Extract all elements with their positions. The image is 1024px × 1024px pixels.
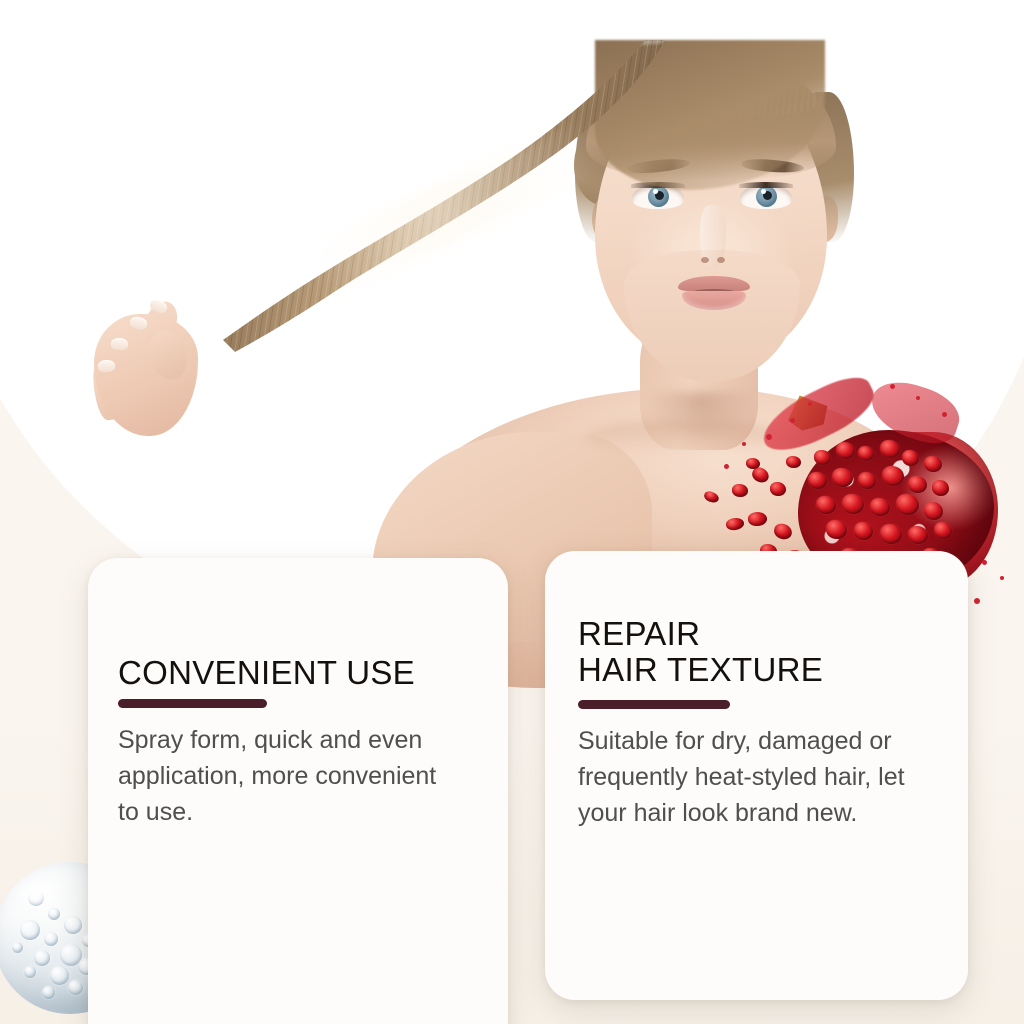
banner-stage: CONVENIENT USE Spray form, quick and eve… — [0, 0, 1024, 1024]
card-text-layer: CONVENIENT USE Spray form, quick and eve… — [0, 0, 1024, 1024]
card-title-convenient-use: CONVENIENT USE — [118, 655, 415, 691]
card-body-repair-hair-texture: Suitable for dry, damaged or frequently … — [578, 723, 938, 831]
card-body-convenient-use: Spray form, quick and even application, … — [118, 722, 448, 830]
accent-bar-repair-hair-texture — [578, 700, 730, 709]
card-title-repair-hair-texture: REPAIR HAIR TEXTURE — [578, 616, 823, 687]
accent-bar-convenient-use — [118, 699, 267, 708]
